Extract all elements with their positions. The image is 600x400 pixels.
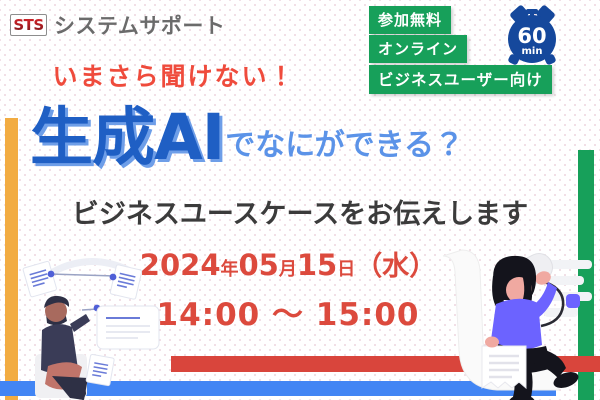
clock-duration: 60 [517,24,546,48]
date-day-unit: 日 [337,259,355,280]
page-subtitle: ビジネスユースケースをお伝えします [0,192,600,231]
logo-company-name: システムサポート [54,10,225,40]
date-month-unit: 月 [279,259,297,280]
date-year-unit: 年 [221,259,239,280]
title-emphasis: 生成AI [30,108,224,168]
date-day: 15 [297,248,337,282]
date-month: 05 [239,248,279,282]
page-title: 生成AI でなにができる？ [30,108,464,168]
badge-free: 参加無料 [369,6,451,34]
badge-business-user: ビジネスユーザー向け [369,65,552,94]
page-kicker: いまさら聞けない！ [0,57,348,93]
date-weekday: （水） [355,251,436,282]
alarm-clock-icon: 60 min [497,2,567,68]
title-rest: でなにができる？ [225,120,464,168]
event-date: 2024年05月15日（水） [118,244,458,283]
clock-unit: min [522,46,543,57]
webinar-banner: STS システムサポート 参加無料 オンライン ビジネスユーザー向け 60 mi… [0,0,600,400]
badge-group: 参加無料 オンライン ビジネスユーザー向け 60 min [360,0,600,110]
event-time: 14:00 ～ 15:00 [118,289,458,334]
sts-logo-icon: STS [10,14,47,36]
logo-mark-text: STS [13,16,43,34]
brand-logo[interactable]: STS システムサポート [10,10,225,40]
badge-online: オンライン [369,35,467,63]
date-year: 2024 [140,248,221,282]
person-holding-mouse-illustration [440,236,600,400]
accent-bar-orange-left [5,118,18,400]
